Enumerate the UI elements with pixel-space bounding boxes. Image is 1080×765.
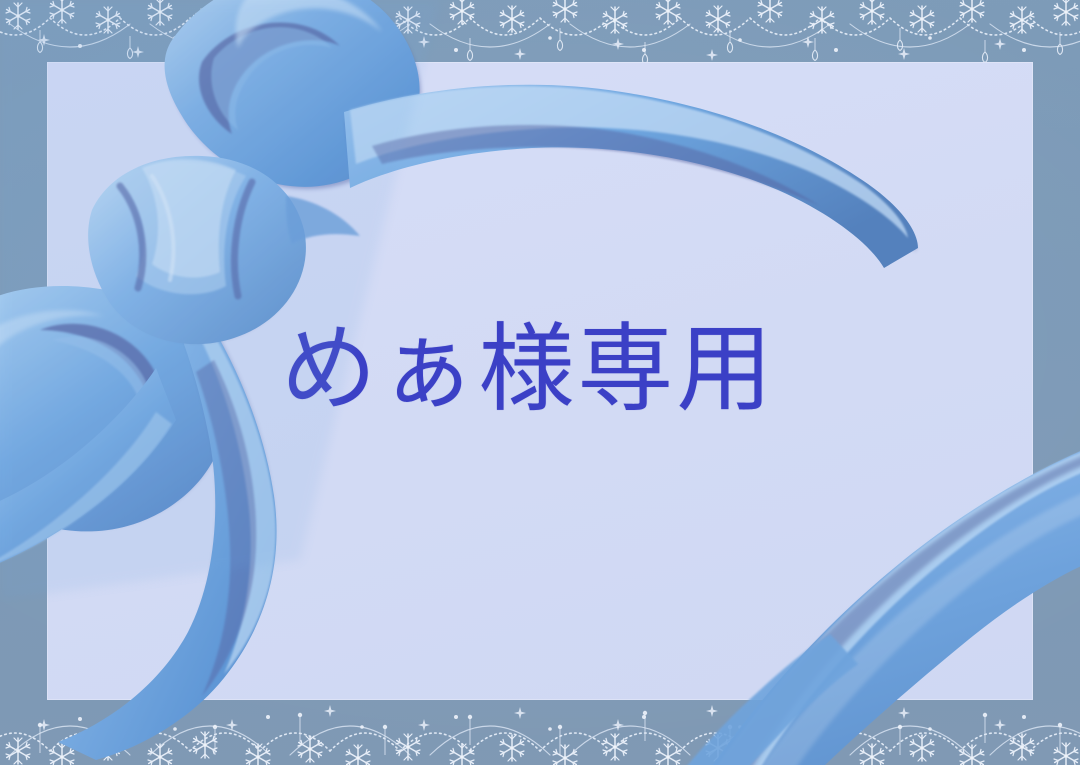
reserved-listing-card: めぁ様専用 — [0, 0, 1080, 765]
inner-panel — [47, 62, 1033, 700]
